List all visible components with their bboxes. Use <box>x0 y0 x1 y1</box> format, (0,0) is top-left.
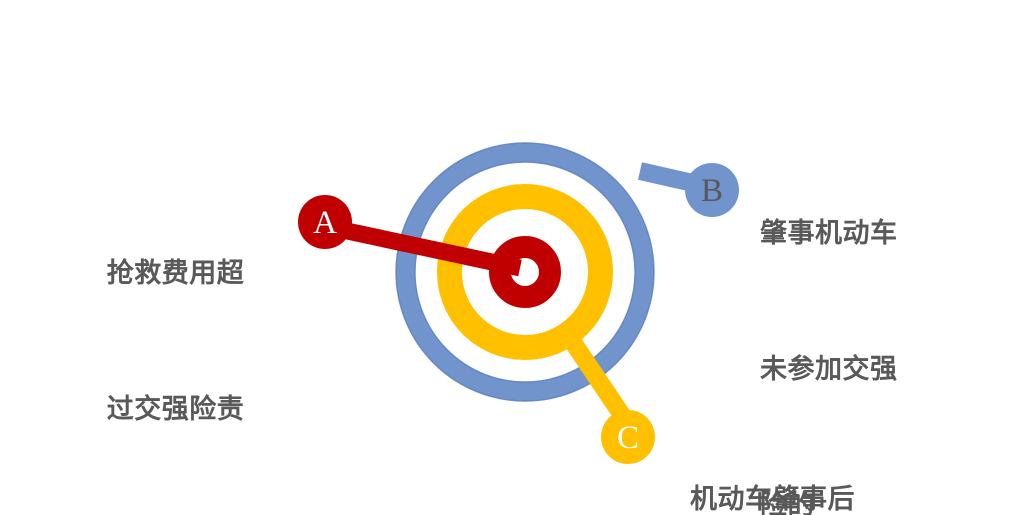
label-b-line-1: 肇事机动车 <box>760 211 975 256</box>
label-a-line-1: 抢救费用超 <box>68 251 283 296</box>
label-a: 抢救费用超 过交强险责 任限额的 <box>68 160 283 515</box>
label-a-line-2: 过交强险责 <box>68 387 283 432</box>
marker-c-letter: C <box>617 420 639 456</box>
diagram-canvas: A B C 抢救费用超 过交强险责 任限额的 肇事机动车 未参加交强 险的 机动… <box>0 0 1025 515</box>
label-c-line-1: 机动车肇事后 <box>690 477 920 515</box>
middle-ring <box>450 197 601 348</box>
marker-a-letter: A <box>313 205 337 241</box>
marker-b[interactable]: B <box>685 163 739 217</box>
marker-c[interactable]: C <box>601 410 655 464</box>
marker-a[interactable]: A <box>298 195 352 249</box>
bullseye-ring <box>500 247 550 297</box>
label-c: 机动车肇事后 逃逸的 <box>690 386 920 515</box>
marker-b-letter: B <box>701 173 723 209</box>
